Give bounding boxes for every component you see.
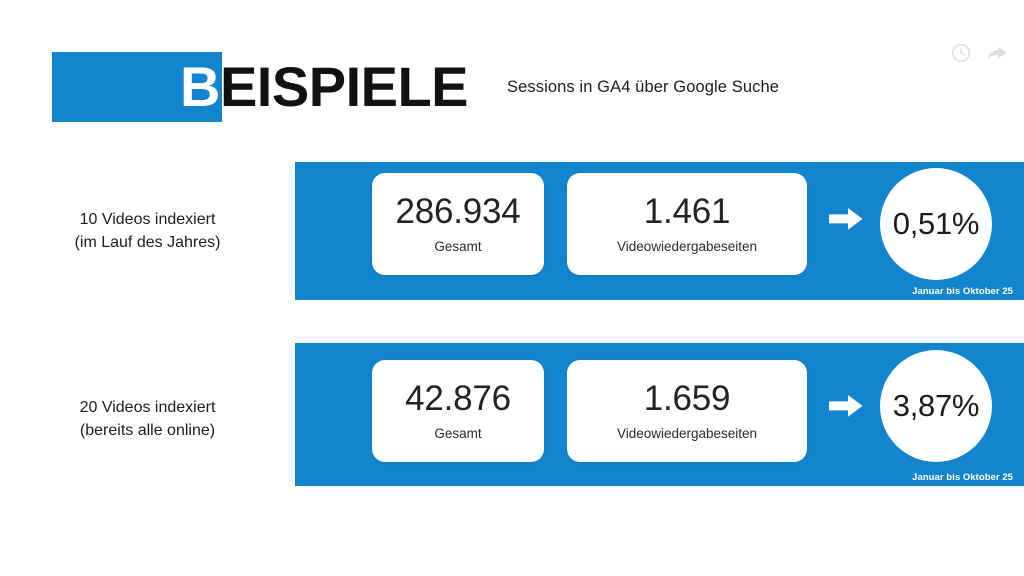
page-subtitle: Sessions in GA4 über Google Suche (507, 78, 779, 97)
arrow-wrap-2 (829, 392, 863, 420)
page-title: BEISPIELE (52, 52, 468, 122)
toolbar-icons (950, 42, 1008, 64)
stat-value-total-2: 42.876 (405, 381, 511, 418)
conversion-rate-circle-2[interactable]: 3,87% (880, 350, 992, 462)
row-caption-1: 10 Videos indexiert (im Lauf des Jahres) (0, 208, 295, 254)
page-title-rest: EISPIELE (220, 59, 468, 115)
stat-label-total-1: Gesamt (434, 239, 481, 254)
stat-card-pages-2[interactable]: 1.659 Videowiedergabeseiten (567, 360, 807, 462)
panel-footnote-2: Januar bis Oktober 25 (912, 472, 1013, 483)
metric-panel-content-1: 286.934 Gesamt 1.461 Videowiedergabeseit… (295, 162, 1024, 300)
clock-icon[interactable] (950, 42, 972, 64)
stat-label-pages-2: Videowiedergabeseiten (617, 426, 757, 441)
metric-panel-row-1: 286.934 Gesamt 1.461 Videowiedergabeseit… (295, 162, 1024, 300)
row-caption-2: 20 Videos indexiert (bereits alle online… (0, 396, 295, 442)
right-arrow-icon (829, 392, 863, 420)
right-arrow-icon (829, 205, 863, 233)
stat-value-pages-1: 1.461 (644, 194, 731, 231)
metric-panel-row-2: 42.876 Gesamt 1.659 Videowiedergabeseite… (295, 343, 1024, 486)
page-title-lead-letter: B (180, 59, 220, 115)
conversion-rate-value-2: 3,87% (893, 388, 979, 424)
stat-value-pages-2: 1.659 (644, 381, 731, 418)
stat-label-pages-1: Videowiedergabeseiten (617, 239, 757, 254)
stat-label-total-2: Gesamt (434, 426, 481, 441)
conversion-rate-circle-1[interactable]: 0,51% (880, 168, 992, 280)
stat-card-pages-1[interactable]: 1.461 Videowiedergabeseiten (567, 173, 807, 275)
metric-panel-content-2: 42.876 Gesamt 1.659 Videowiedergabeseite… (295, 343, 1024, 486)
arrow-wrap-1 (829, 205, 863, 233)
conversion-rate-value-1: 0,51% (893, 206, 979, 242)
stat-value-total-1: 286.934 (395, 194, 520, 231)
stat-card-total-2[interactable]: 42.876 Gesamt (372, 360, 544, 462)
slide-canvas: BEISPIELE Sessions in GA4 über Google Su… (0, 0, 1024, 576)
share-arrow-icon[interactable] (986, 42, 1008, 64)
panel-footnote-1: Januar bis Oktober 25 (912, 286, 1013, 297)
stat-card-total-1[interactable]: 286.934 Gesamt (372, 173, 544, 275)
